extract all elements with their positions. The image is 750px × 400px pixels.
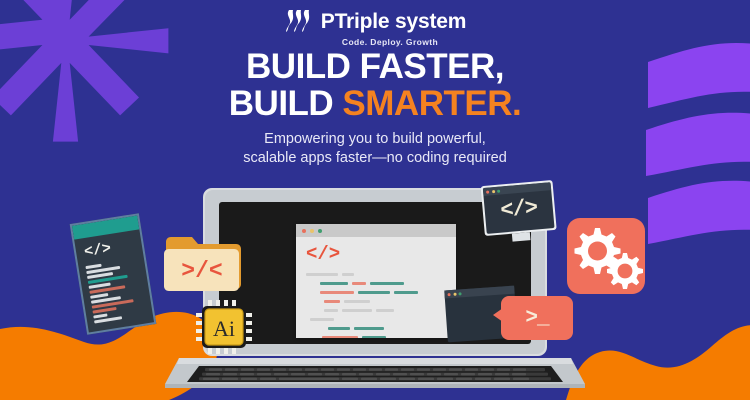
headline-line-2: BUILD SMARTER. <box>0 85 750 122</box>
code-window-titlebar <box>296 224 456 237</box>
gears-tile-icon <box>567 218 645 294</box>
brand-name: PTriple system <box>321 11 466 32</box>
headline-block: BUILD FASTER, BUILD SMARTER. <box>0 48 750 123</box>
traffic-light-maximize-icon[interactable] <box>497 189 500 192</box>
traffic-light-maximize-icon <box>458 292 461 295</box>
code-folder-icon: >/< <box>162 232 248 294</box>
code-line <box>306 327 446 333</box>
traffic-light-maximize-icon[interactable] <box>318 229 322 233</box>
subheadline-line-1: Empowering you to build powerful, <box>0 130 750 149</box>
subheadline-block: Empowering you to build powerful, scalab… <box>0 130 750 168</box>
traffic-light-minimize-icon[interactable] <box>310 229 314 233</box>
code-line <box>306 300 446 306</box>
laptop-code-window: </> <box>296 224 456 338</box>
traffic-light-close-icon <box>447 293 450 296</box>
code-line <box>306 336 446 338</box>
svg-text:Ai: Ai <box>213 316 235 341</box>
code-window-body: </> <box>296 237 456 338</box>
headline-line-1: BUILD FASTER, <box>0 48 750 85</box>
terminal-prompt-icon: >_ <box>525 308 548 329</box>
traffic-light-close-icon[interactable] <box>302 229 306 233</box>
code-line <box>306 309 446 315</box>
subheadline-line-2: scalable apps faster—no coding required <box>0 149 750 168</box>
terminal-bubble-icon: >_ <box>501 296 573 340</box>
monitor-frame: </> <box>481 180 557 236</box>
terminal-bubble: >_ <box>501 296 573 340</box>
code-tag-icon: </> <box>483 190 554 230</box>
brand-row: PTriple system <box>284 8 466 34</box>
monitor-code-window: </> <box>481 180 558 244</box>
code-line <box>306 282 446 288</box>
headline-line-2-prefix: BUILD <box>229 84 343 123</box>
svg-text:>/<: >/< <box>181 258 222 284</box>
brand-tagline: Code. Deploy. Growth <box>342 37 438 47</box>
triple-wave-icon <box>284 8 314 34</box>
headline-accent-word: SMARTER <box>342 84 512 123</box>
code-tag-icon: </> <box>306 245 446 264</box>
traffic-light-minimize-icon[interactable] <box>491 190 494 193</box>
code-snippet-lines <box>79 257 153 324</box>
monitor-screen: </> <box>483 182 555 234</box>
ai-chip-icon: Ai <box>196 300 252 354</box>
traffic-light-minimize-icon <box>453 292 456 295</box>
monitor-stand <box>512 232 531 242</box>
code-line <box>306 273 446 279</box>
code-line <box>306 291 446 297</box>
traffic-light-close-icon[interactable] <box>486 190 489 193</box>
headline-period: . <box>512 84 521 123</box>
banner-stage: PTriple system Code. Deploy. Growth BUIL… <box>0 0 750 400</box>
code-line <box>306 318 446 324</box>
brand-header: PTriple system Code. Deploy. Growth <box>0 8 750 47</box>
